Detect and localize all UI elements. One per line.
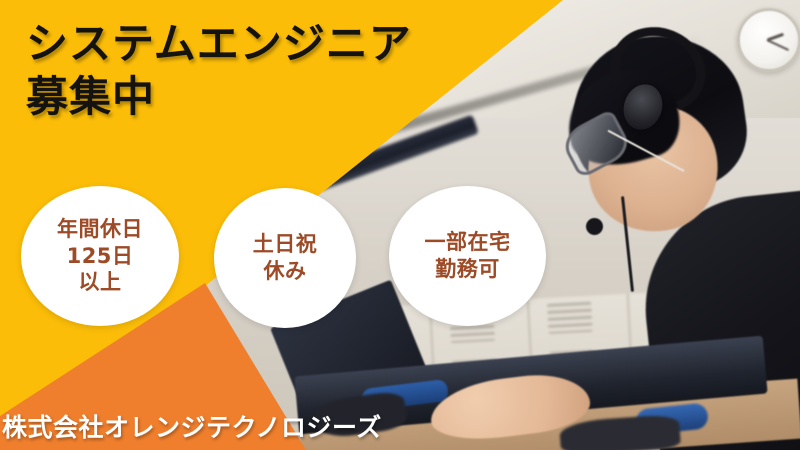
badge-0-line-0: 年間休日: [57, 216, 143, 243]
badge-0-line-1: 125日: [67, 243, 134, 270]
page-title: システムエンジニア 募集中: [26, 18, 496, 124]
job-ad-poster: システムエンジニア 募集中 年間休日 125日 以上 土日祝 休み 一部在宅 勤…: [0, 0, 800, 450]
badge-1-line-1: 休み: [264, 258, 307, 285]
headline-line-1: システムエンジニア: [26, 18, 496, 71]
badge-2-line-1: 勤務可: [435, 256, 500, 283]
badge-remote-work: 一部在宅 勤務可: [389, 186, 546, 326]
badge-2-line-0: 一部在宅: [425, 229, 511, 256]
headline-line-2: 募集中: [26, 71, 496, 124]
badge-annual-holidays: 年間休日 125日 以上: [21, 186, 179, 326]
badge-1-line-0: 土日祝: [253, 231, 318, 258]
badge-weekend-holidays: 土日祝 休み: [214, 188, 356, 328]
badge-0-line-2: 以上: [79, 269, 122, 296]
company-name: 株式会社オレンジテクノロジーズ: [0, 408, 382, 444]
